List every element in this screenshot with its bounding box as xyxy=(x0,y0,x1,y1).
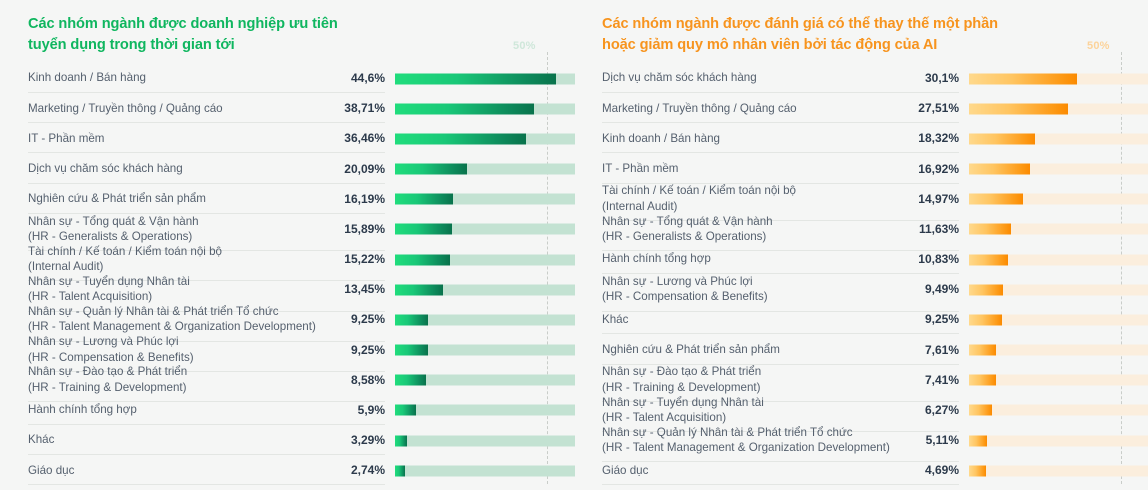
row-bar xyxy=(969,284,1148,295)
row-bar xyxy=(395,465,575,476)
table-row: Marketing / Truyền thông / Quảng cáo38,7… xyxy=(28,94,546,124)
table-row: Kinh doanh / Bán hàng18,32% xyxy=(602,124,1120,154)
row-bar xyxy=(969,375,1148,386)
panel-title-hiring-priority: Các nhóm ngành được doanh nghiệp ưu tiên… xyxy=(28,14,546,55)
table-row: Dịch vụ chăm sóc khách hàng20,09% xyxy=(28,154,546,184)
row-label: Nghiên cứu & Phát triển sản phẩm xyxy=(602,342,925,357)
table-row: Nhân sự - Tổng quát & Vận hành (HR - Gen… xyxy=(602,214,1120,244)
row-text-cell: Kinh doanh / Bán hàng44,6% xyxy=(28,64,385,93)
row-bar xyxy=(395,194,575,205)
row-bar xyxy=(395,73,575,84)
bar-track xyxy=(969,405,1148,416)
row-label: Nhân sự - Lương và Phúc lợi (HR - Compen… xyxy=(602,274,925,305)
bar-track xyxy=(969,465,1148,476)
row-label: Khác xyxy=(602,312,925,327)
row-bar xyxy=(395,314,575,325)
row-text-cell: IT - Phần mềm36,46% xyxy=(28,124,385,153)
row-value: 9,49% xyxy=(925,282,959,296)
table-row: Nhân sự - Quản lý Nhân tài & Phát triển … xyxy=(602,426,1120,456)
table-row: Khác3,29% xyxy=(28,426,546,456)
bar-fill xyxy=(395,133,526,144)
row-label: Giáo dục xyxy=(602,463,925,478)
row-bar xyxy=(969,133,1148,144)
table-row: Nhân sự - Lương và Phúc lợi (HR - Compen… xyxy=(602,275,1120,305)
row-value: 14,97% xyxy=(918,192,959,206)
row-value: 9,25% xyxy=(351,343,385,357)
row-text-cell: Hành chính tổng hợp5,9% xyxy=(28,396,385,425)
bar-fill xyxy=(969,254,1008,265)
row-value: 9,25% xyxy=(351,312,385,326)
bar-fill xyxy=(395,314,428,325)
row-value: 11,63% xyxy=(919,222,959,236)
row-value: 44,6% xyxy=(351,71,385,85)
row-label: Nhân sự - Đào tạo & Phát triển (HR - Tra… xyxy=(28,364,351,395)
table-row: Giáo dục4,69% xyxy=(602,456,1120,486)
axis-dashed-line-right xyxy=(1121,52,1122,484)
row-bar xyxy=(969,164,1148,175)
row-value: 6,27% xyxy=(925,403,959,417)
table-row: Kinh doanh / Bán hàng44,6% xyxy=(28,63,546,93)
bar-fill xyxy=(395,435,407,446)
row-value: 36,46% xyxy=(344,131,385,145)
row-text-cell: Giáo dục2,74% xyxy=(28,456,385,485)
table-row: Khác9,25% xyxy=(602,305,1120,335)
row-bar xyxy=(969,73,1148,84)
row-label: Marketing / Truyền thông / Quảng cáo xyxy=(28,101,344,116)
row-label: IT - Phần mềm xyxy=(28,131,344,146)
row-value: 7,41% xyxy=(925,373,959,387)
table-row: Marketing / Truyền thông / Quảng cáo27,5… xyxy=(602,94,1120,124)
row-text-cell: Dịch vụ chăm sóc khách hàng20,09% xyxy=(28,155,385,184)
row-bar xyxy=(395,224,575,235)
bar-fill xyxy=(969,435,987,446)
row-value: 4,69% xyxy=(925,463,959,477)
row-bar xyxy=(395,164,575,175)
chart-panel-ai-impact: Các nhóm ngành được đánh giá có thể thay… xyxy=(574,0,1148,490)
bar-fill xyxy=(395,465,405,476)
row-value: 27,51% xyxy=(918,101,959,115)
row-text-cell: Dịch vụ chăm sóc khách hàng30,1% xyxy=(602,64,959,93)
row-label: Dịch vụ chăm sóc khách hàng xyxy=(602,70,925,85)
bar-fill xyxy=(395,194,453,205)
row-text-cell: Khác3,29% xyxy=(28,426,385,455)
bar-row-list-hiring-priority: Kinh doanh / Bán hàng44,6%Marketing / Tr… xyxy=(28,63,546,485)
bar-fill xyxy=(969,375,996,386)
row-value: 8,58% xyxy=(351,373,385,387)
dual-bar-chart-board: Các nhóm ngành được doanh nghiệp ưu tiên… xyxy=(0,0,1148,490)
row-value: 15,89% xyxy=(344,222,385,236)
table-row: IT - Phần mềm36,46% xyxy=(28,124,546,154)
row-text-cell: Marketing / Truyền thông / Quảng cáo27,5… xyxy=(602,94,959,123)
row-bar xyxy=(395,133,575,144)
bar-fill xyxy=(395,345,428,356)
axis-max-label-right: 50% xyxy=(1087,40,1110,52)
bar-fill xyxy=(395,103,534,114)
row-text-cell: Khác9,25% xyxy=(602,305,959,334)
row-value: 20,09% xyxy=(344,162,385,176)
bar-fill xyxy=(969,164,1030,175)
row-bar xyxy=(969,224,1148,235)
bar-fill xyxy=(969,405,992,416)
row-label: Hành chính tổng hợp xyxy=(602,251,918,266)
axis-dashed-line-left xyxy=(547,52,548,484)
bar-track xyxy=(395,435,575,446)
row-value: 10,83% xyxy=(918,252,959,266)
row-label: Nhân sự - Tổng quát & Vận hành (HR - Gen… xyxy=(602,214,919,245)
table-row: Nhân sự - Đào tạo & Phát triển (HR - Tra… xyxy=(28,365,546,395)
row-bar xyxy=(969,345,1148,356)
bar-fill xyxy=(969,284,1003,295)
chart-panel-hiring-priority: Các nhóm ngành được doanh nghiệp ưu tiên… xyxy=(0,0,574,490)
row-label: Dịch vụ chăm sóc khách hàng xyxy=(28,161,344,176)
row-label: Nhân sự - Quản lý Nhân tài & Phát triển … xyxy=(602,425,926,456)
row-value: 9,25% xyxy=(925,312,959,326)
row-value: 5,11% xyxy=(926,433,959,447)
row-bar xyxy=(395,345,575,356)
axis-max-label-left: 50% xyxy=(513,40,536,52)
bar-track xyxy=(969,435,1148,446)
row-value: 18,32% xyxy=(918,131,959,145)
bar-track xyxy=(395,405,575,416)
bar-fill xyxy=(969,194,1023,205)
row-label: Hành chính tổng hợp xyxy=(28,402,358,417)
row-value: 13,45% xyxy=(344,282,385,296)
row-bar xyxy=(969,103,1148,114)
bar-fill xyxy=(969,465,986,476)
row-label: Kinh doanh / Bán hàng xyxy=(602,131,918,146)
row-bar xyxy=(969,405,1148,416)
bar-track xyxy=(395,465,575,476)
row-label: Marketing / Truyền thông / Quảng cáo xyxy=(602,101,918,116)
bar-fill xyxy=(395,73,556,84)
row-value: 3,29% xyxy=(351,433,385,447)
table-row: Hành chính tổng hợp5,9% xyxy=(28,395,546,425)
bar-fill xyxy=(969,224,1011,235)
bar-fill xyxy=(395,405,416,416)
bar-row-list-ai-impact: Dịch vụ chăm sóc khách hàng30,1%Marketin… xyxy=(602,63,1120,485)
row-value: 30,1% xyxy=(925,71,959,85)
row-value: 2,74% xyxy=(351,463,385,477)
row-bar xyxy=(969,314,1148,325)
row-bar xyxy=(395,435,575,446)
bar-fill xyxy=(395,375,426,386)
row-label: IT - Phần mềm xyxy=(602,161,918,176)
row-bar xyxy=(395,254,575,265)
row-value: 7,61% xyxy=(925,343,959,357)
bar-fill xyxy=(969,345,996,356)
row-bar xyxy=(395,405,575,416)
row-text-cell: Marketing / Truyền thông / Quảng cáo38,7… xyxy=(28,94,385,123)
row-text-cell: Giáo dục4,69% xyxy=(602,456,959,485)
row-value: 38,71% xyxy=(344,101,385,115)
row-value: 16,19% xyxy=(344,192,385,206)
row-label: Kinh doanh / Bán hàng xyxy=(28,70,351,85)
row-text-cell: Kinh doanh / Bán hàng18,32% xyxy=(602,124,959,153)
row-value: 16,92% xyxy=(918,162,959,176)
bar-fill xyxy=(395,164,467,175)
bar-fill xyxy=(395,224,452,235)
row-bar xyxy=(395,284,575,295)
row-bar xyxy=(969,254,1148,265)
row-label: Giáo dục xyxy=(28,463,351,478)
row-bar xyxy=(969,194,1148,205)
row-label: Nghiên cứu & Phát triển sản phẩm xyxy=(28,191,344,206)
row-bar xyxy=(395,375,575,386)
row-bar xyxy=(969,465,1148,476)
row-label: Khác xyxy=(28,432,351,447)
table-row: Dịch vụ chăm sóc khách hàng30,1% xyxy=(602,63,1120,93)
bar-fill xyxy=(969,103,1068,114)
row-value: 5,9% xyxy=(358,403,385,417)
bar-fill xyxy=(969,314,1002,325)
bar-fill xyxy=(395,284,443,295)
row-bar xyxy=(969,435,1148,446)
row-value: 15,22% xyxy=(344,252,385,266)
row-bar xyxy=(395,103,575,114)
bar-fill xyxy=(969,73,1077,84)
table-row: Giáo dục2,74% xyxy=(28,456,546,486)
panel-title-ai-impact: Các nhóm ngành được đánh giá có thể thay… xyxy=(602,14,1120,55)
bar-track xyxy=(969,375,1148,386)
bar-fill xyxy=(969,133,1035,144)
bar-fill xyxy=(395,254,450,265)
